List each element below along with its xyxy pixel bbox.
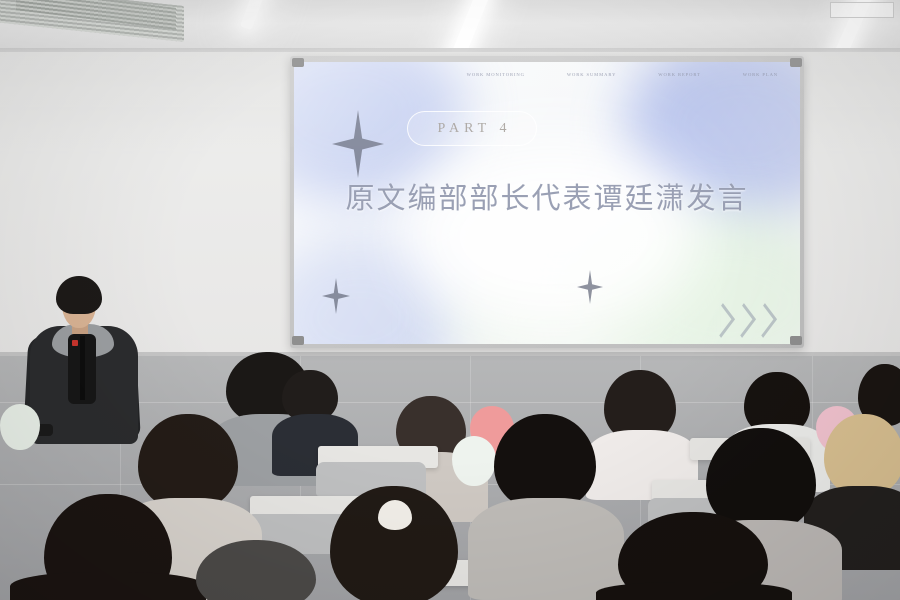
slide-nav-item-2: WORK REPORT [658,72,700,84]
speaker-hair [56,276,102,314]
audience-body [596,582,792,600]
sparkle-icon-bottom-left [322,278,350,314]
balloon [452,436,496,486]
audience-body [468,498,624,600]
audience-head-blonde [824,414,900,496]
sparkle-icon-bottom-center [577,270,603,304]
speaker-chest-logo [72,340,78,346]
part-badge: PART 4 [407,111,537,146]
lecture-hall-photo: WORK MONITORING WORK SUMMARY WORK REPORT… [0,0,900,600]
audience-head [494,414,596,510]
balloon [0,404,40,450]
speaker-jacket-placket [80,336,85,400]
audience-body [10,572,206,600]
slide-nav-item-1: WORK SUMMARY [567,72,616,84]
chevron-right-icon-group [712,309,774,332]
projected-slide: WORK MONITORING WORK SUMMARY WORK REPORT… [294,62,800,344]
screen-clip-top-right [790,58,802,67]
slide-nav-item-0: WORK MONITORING [467,72,525,84]
screen-clip-bottom-left [292,336,304,345]
sparkle-icon-large [332,110,384,178]
slide-nav-item-3: WORK PLAN [743,72,778,84]
part-badge-label: PART 4 [433,121,512,137]
slide-title: 原文编部部长代表谭廷潇发言 [294,175,800,217]
ceiling-sign-plate [830,2,894,18]
audience-head [138,414,238,510]
screen-clip-bottom-right [790,336,802,345]
screen-clip-top-left [292,58,304,67]
slide-nav: WORK MONITORING WORK SUMMARY WORK REPORT… [294,72,800,84]
hair-clip-accessory [378,500,412,530]
